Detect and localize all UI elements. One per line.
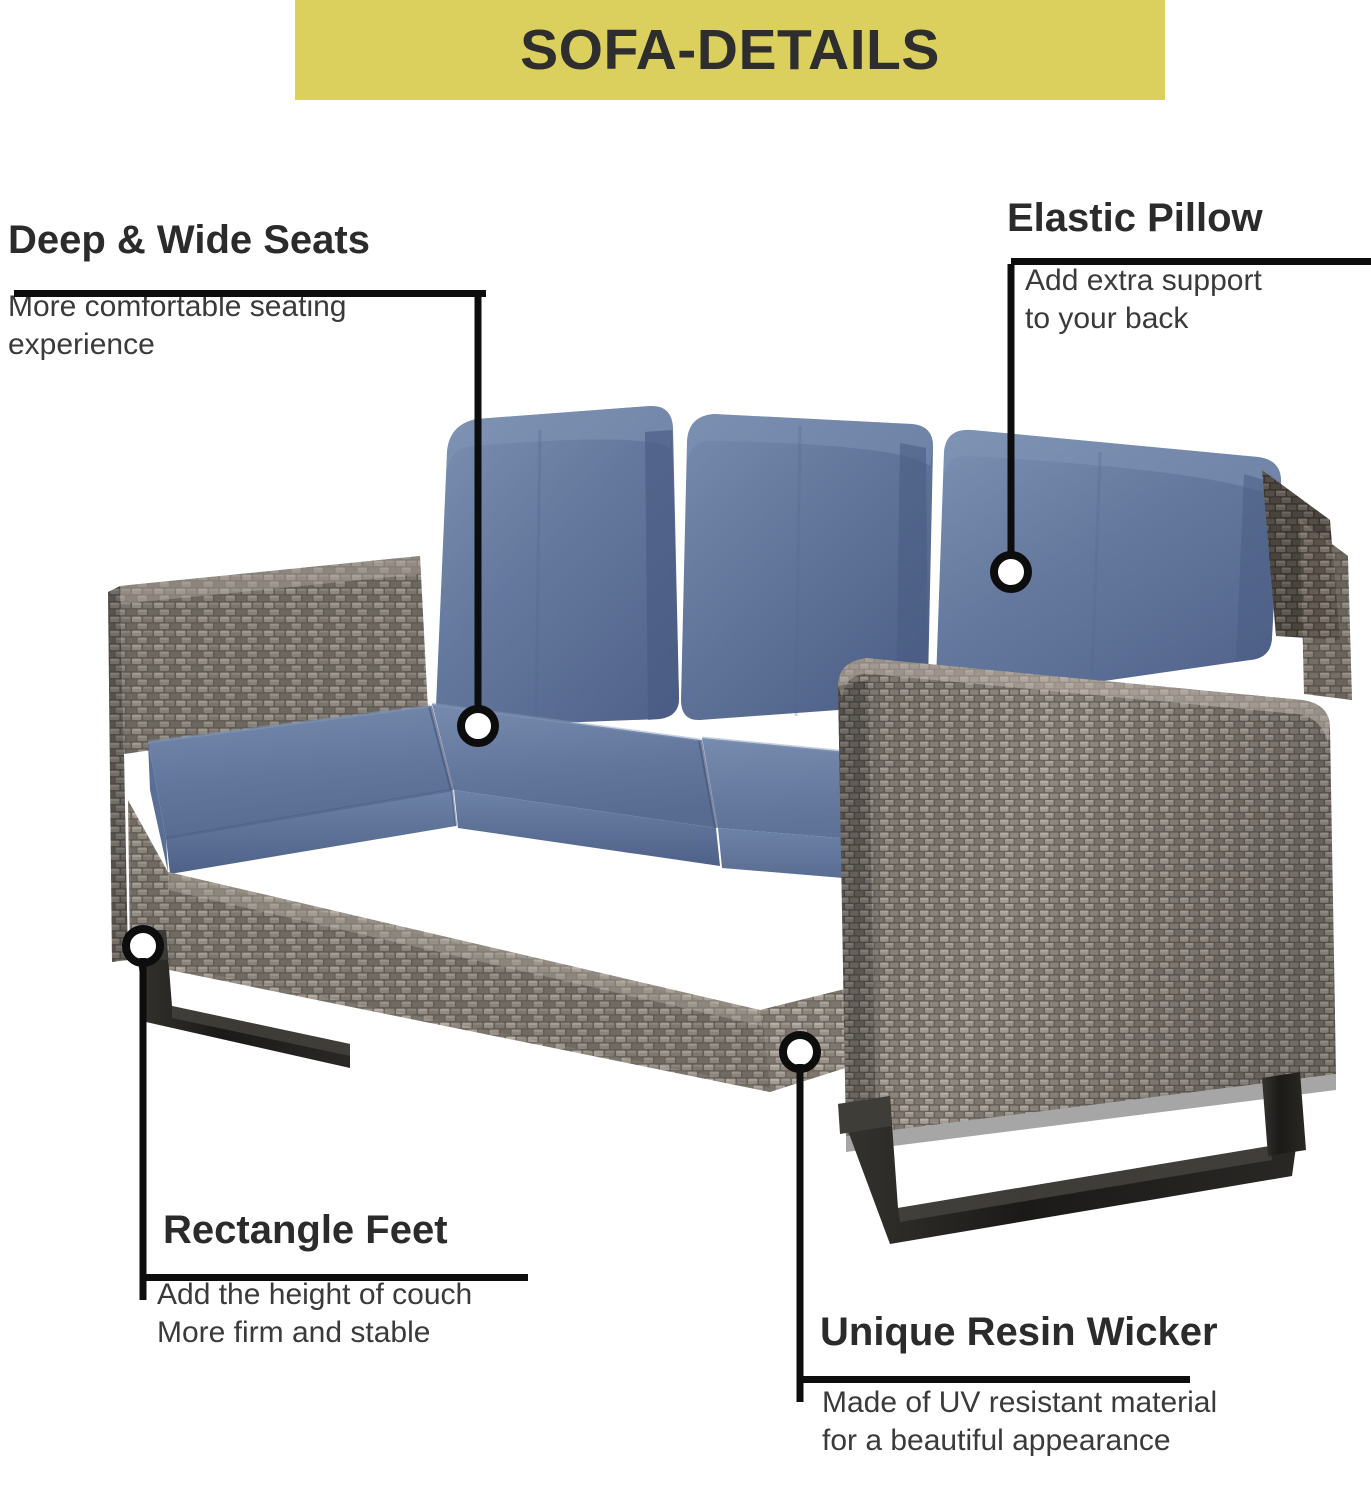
callout-title-deep-wide-seats: Deep & Wide Seats bbox=[8, 218, 488, 262]
callout-unique-resin-wicker: Unique Resin Wicker Made of UV resistant… bbox=[820, 1310, 1360, 1459]
callout-title-rectangle-feet: Rectangle Feet bbox=[163, 1208, 593, 1252]
callout-body-unique-resin-wicker: Made of UV resistant material for a beau… bbox=[822, 1384, 1360, 1459]
callout-rule-rectangle-feet bbox=[143, 1274, 528, 1281]
callout-rule-elastic-pillow bbox=[1011, 258, 1371, 265]
callout-body-rectangle-feet: Add the height of couch More firm and st… bbox=[157, 1276, 593, 1351]
callout-body-elastic-pillow: Add extra support to your back bbox=[1025, 262, 1367, 337]
infographic-canvas: SOFA-DETAILS bbox=[0, 0, 1371, 1488]
callout-title-elastic-pillow: Elastic Pillow bbox=[1007, 196, 1367, 240]
callout-deep-wide-seats: Deep & Wide Seats More comfortable seati… bbox=[8, 218, 488, 363]
right-arm-wicker bbox=[838, 658, 1336, 1152]
callout-rule-deep-wide-seats bbox=[14, 290, 486, 297]
callout-rule-unique-resin-wicker bbox=[800, 1376, 1190, 1383]
callout-rectangle-feet: Rectangle Feet Add the height of couch M… bbox=[163, 1208, 593, 1351]
callout-body-deep-wide-seats: More comfortable seating experience bbox=[8, 288, 488, 363]
callout-title-unique-resin-wicker: Unique Resin Wicker bbox=[820, 1310, 1360, 1354]
callout-elastic-pillow: Elastic Pillow Add extra support to your… bbox=[1007, 196, 1367, 337]
